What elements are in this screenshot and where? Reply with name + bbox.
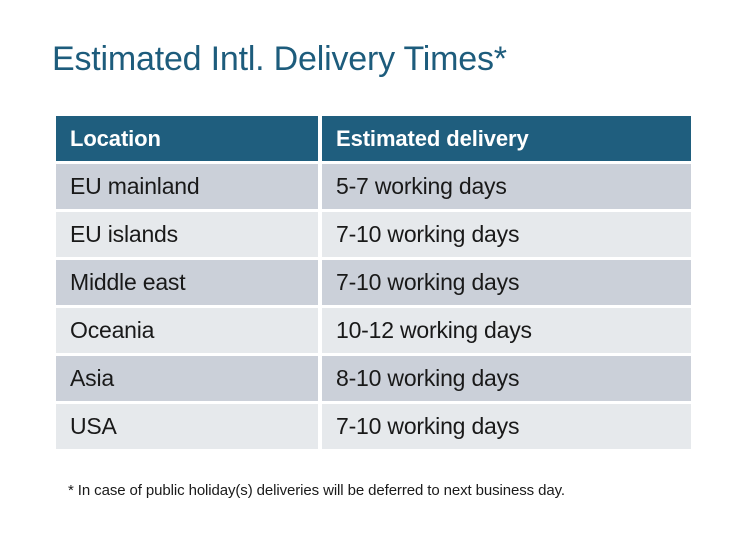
table-row: Middle east 7-10 working days: [56, 260, 691, 305]
table-row: USA 7-10 working days: [56, 404, 691, 449]
cell-delivery: 7-10 working days: [322, 404, 691, 449]
cell-delivery: 7-10 working days: [322, 212, 691, 257]
cell-location: Asia: [56, 356, 318, 401]
cell-location: EU mainland: [56, 164, 318, 209]
cell-delivery: 8-10 working days: [322, 356, 691, 401]
column-header-estimated-delivery: Estimated delivery: [322, 116, 691, 161]
cell-delivery: 10-12 working days: [322, 308, 691, 353]
cell-location: EU islands: [56, 212, 318, 257]
cell-location: Oceania: [56, 308, 318, 353]
page-title: Estimated Intl. Delivery Times*: [52, 38, 507, 80]
footnote-text: * In case of public holiday(s) deliverie…: [68, 481, 565, 501]
table-row: Asia 8-10 working days: [56, 356, 691, 401]
cell-location: USA: [56, 404, 318, 449]
table-header: Location Estimated delivery: [56, 116, 691, 161]
delivery-times-page: Estimated Intl. Delivery Times* Location…: [0, 0, 745, 536]
table-row: EU islands 7-10 working days: [56, 212, 691, 257]
table-row: Oceania 10-12 working days: [56, 308, 691, 353]
cell-delivery: 7-10 working days: [322, 260, 691, 305]
table-body: EU mainland 5-7 working days EU islands …: [56, 164, 691, 449]
cell-delivery: 5-7 working days: [322, 164, 691, 209]
column-header-location: Location: [56, 116, 318, 161]
table-header-row: Location Estimated delivery: [56, 116, 691, 161]
table-row: EU mainland 5-7 working days: [56, 164, 691, 209]
delivery-times-table: Location Estimated delivery EU mainland …: [52, 113, 695, 452]
cell-location: Middle east: [56, 260, 318, 305]
